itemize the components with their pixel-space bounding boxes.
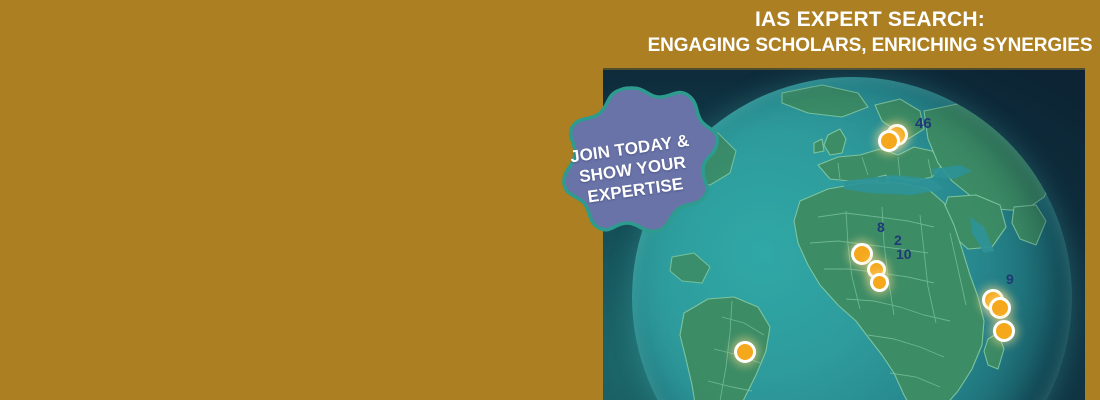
join-today-badge[interactable]: JOIN TODAY & SHOW YOUR EXPERTISE bbox=[545, 84, 720, 254]
headline-line-2: ENGAGING SCHOLARS, ENRICHING SYNERGIES bbox=[640, 34, 1100, 58]
marker-south-east-africa[interactable] bbox=[993, 320, 1015, 342]
banner-headline: IAS EXPERT SEARCH: ENGAGING SCHOLARS, EN… bbox=[640, 8, 1100, 58]
marker-west-africa-3[interactable] bbox=[870, 273, 889, 292]
marker-brazil[interactable] bbox=[734, 341, 756, 363]
headline-line-1: IAS EXPERT SEARCH: bbox=[640, 8, 1100, 32]
marker-east-africa-front[interactable] bbox=[989, 297, 1011, 319]
marker-label-east-africa: 9 bbox=[1006, 271, 1014, 287]
marker-europe-front[interactable] bbox=[878, 130, 900, 152]
marker-label-europe: 46 bbox=[915, 115, 932, 132]
marker-label-west-africa-1: 8 bbox=[877, 219, 885, 235]
marker-label-west-africa-3: 10 bbox=[896, 246, 912, 262]
badge-starburst-shape bbox=[545, 84, 720, 254]
panel-top-divider bbox=[603, 68, 1085, 70]
